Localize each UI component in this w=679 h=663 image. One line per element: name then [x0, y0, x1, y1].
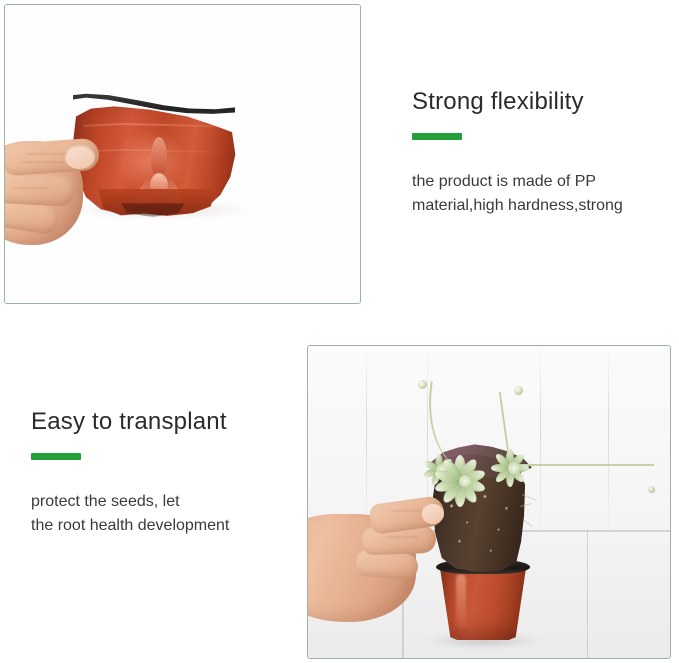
skin-crease [386, 536, 418, 538]
skin-crease [392, 510, 422, 512]
feature-body-line: the product is made of PP [412, 170, 670, 195]
feature-headline: Strong flexibility [412, 88, 670, 116]
backdrop-fold [540, 346, 541, 539]
backdrop-fold [608, 346, 609, 539]
feature-body-line: protect the seeds, let [31, 490, 293, 515]
product-photo-panel [4, 4, 361, 304]
accent-bar [412, 133, 462, 140]
pot-highlight [456, 574, 466, 630]
fingernail [65, 145, 95, 169]
plant-photo-panel [307, 345, 671, 659]
feature-block-easy-to-transplant: Easy to transplant protect the seeds, le… [31, 408, 293, 539]
succulent-rosette [440, 464, 490, 498]
pot-bottom-shade [117, 203, 189, 217]
product-photo-image [5, 5, 360, 303]
feature-block-strong-flexibility: Strong flexibility the product is made o… [412, 88, 670, 219]
plant-photo-image [308, 346, 670, 658]
skin-crease [21, 161, 65, 163]
feature-body: protect the seeds, let the root health d… [31, 490, 293, 540]
rosette-center [459, 475, 471, 487]
flower-bud [418, 380, 427, 389]
table-seam-line [587, 530, 589, 658]
feature-body-line: material,high hardness,strong [412, 194, 670, 219]
plant-photo-scene [308, 346, 670, 658]
product-photo-scene [5, 5, 360, 303]
feature-body-line: the root health development [31, 514, 293, 539]
flower-bud [648, 486, 655, 493]
accent-bar [31, 453, 81, 460]
root-strand [524, 520, 533, 526]
flower-bud [514, 386, 523, 395]
middle-finger [5, 173, 76, 207]
rosette-center [508, 462, 520, 474]
feature-headline: Easy to transplant [31, 408, 293, 436]
fold-petal [151, 137, 167, 177]
hand-holding-product [5, 131, 111, 251]
flower-stem [522, 464, 654, 492]
skin-crease [13, 187, 49, 189]
fingernail [422, 504, 444, 524]
hand-holding-plant [308, 496, 456, 626]
skin-crease [27, 153, 67, 155]
succulent-rosette [494, 454, 534, 482]
feature-body: the product is made of PP material,high … [412, 170, 670, 220]
